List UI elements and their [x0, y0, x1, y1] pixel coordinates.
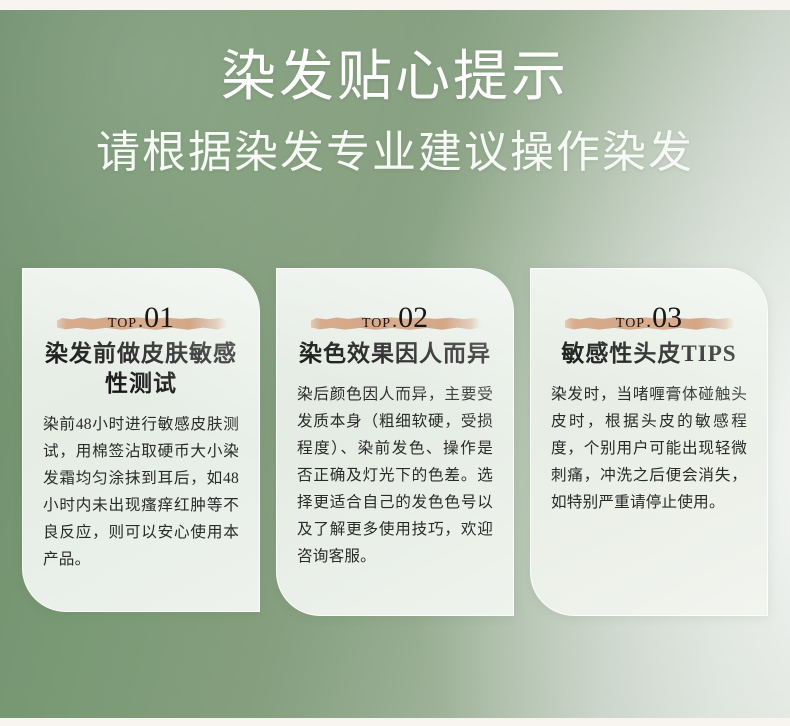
card-body-text: 染后颜色因人而异，主要受发质本身（粗细软硬，受损程度）、染前发色、操作是否正确及… — [291, 381, 499, 570]
card-badge-01: TOP . 01 — [37, 293, 245, 333]
card-heading: 染色效果因人而异 — [291, 339, 499, 369]
badge-text: TOP . 01 — [108, 303, 174, 333]
badge-dot: . — [392, 310, 397, 333]
badge-dot: . — [646, 310, 651, 333]
card-body-text: 染发时，当啫喱膏体碰触头皮时，根据头皮的敏感程度，个别用户可能出现轻微刺痛，冲洗… — [545, 381, 753, 516]
tip-card-02[interactable]: TOP . 02 染色效果因人而异 染后颜色因人而异，主要受发质本身（粗细软硬，… — [276, 268, 514, 616]
tips-card-list: TOP . 01 染发前做皮肤敏感性测试 染前48小时进行敏感皮肤测试，用棉签沾… — [22, 268, 768, 612]
page-title: 染发贴心提示 — [0, 44, 790, 110]
poster-header: 染发贴心提示 请根据染发专业建议操作染发 — [0, 44, 790, 180]
card-badge-02: TOP . 02 — [291, 293, 499, 333]
badge-number: 02 — [398, 303, 428, 333]
badge-label: TOP — [616, 310, 645, 333]
card-heading: 染发前做皮肤敏感性测试 — [37, 339, 245, 399]
badge-label: TOP — [108, 310, 137, 333]
badge-number: 01 — [144, 303, 174, 333]
badge-number: 03 — [652, 303, 682, 333]
page-subtitle: 请根据染发专业建议操作染发 — [0, 126, 790, 180]
card-heading: 敏感性头皮TIPS — [545, 339, 753, 369]
badge-text: TOP . 02 — [362, 303, 428, 333]
card-badge-03: TOP . 03 — [545, 293, 753, 333]
tip-card-03[interactable]: TOP . 03 敏感性头皮TIPS 染发时，当啫喱膏体碰触头皮时，根据头皮的敏… — [530, 268, 768, 616]
badge-label: TOP — [362, 310, 391, 333]
badge-dot: . — [138, 310, 143, 333]
tip-card-01[interactable]: TOP . 01 染发前做皮肤敏感性测试 染前48小时进行敏感皮肤测试，用棉签沾… — [22, 268, 260, 612]
poster-root: 染发贴心提示 请根据染发专业建议操作染发 TOP . 01 染发前做皮肤敏感性测… — [0, 0, 790, 726]
card-body-text: 染前48小时进行敏感皮肤测试，用棉签沾取硬币大小染发霜均匀涂抹到耳后，如48小时… — [37, 411, 245, 573]
badge-text: TOP . 03 — [616, 303, 682, 333]
